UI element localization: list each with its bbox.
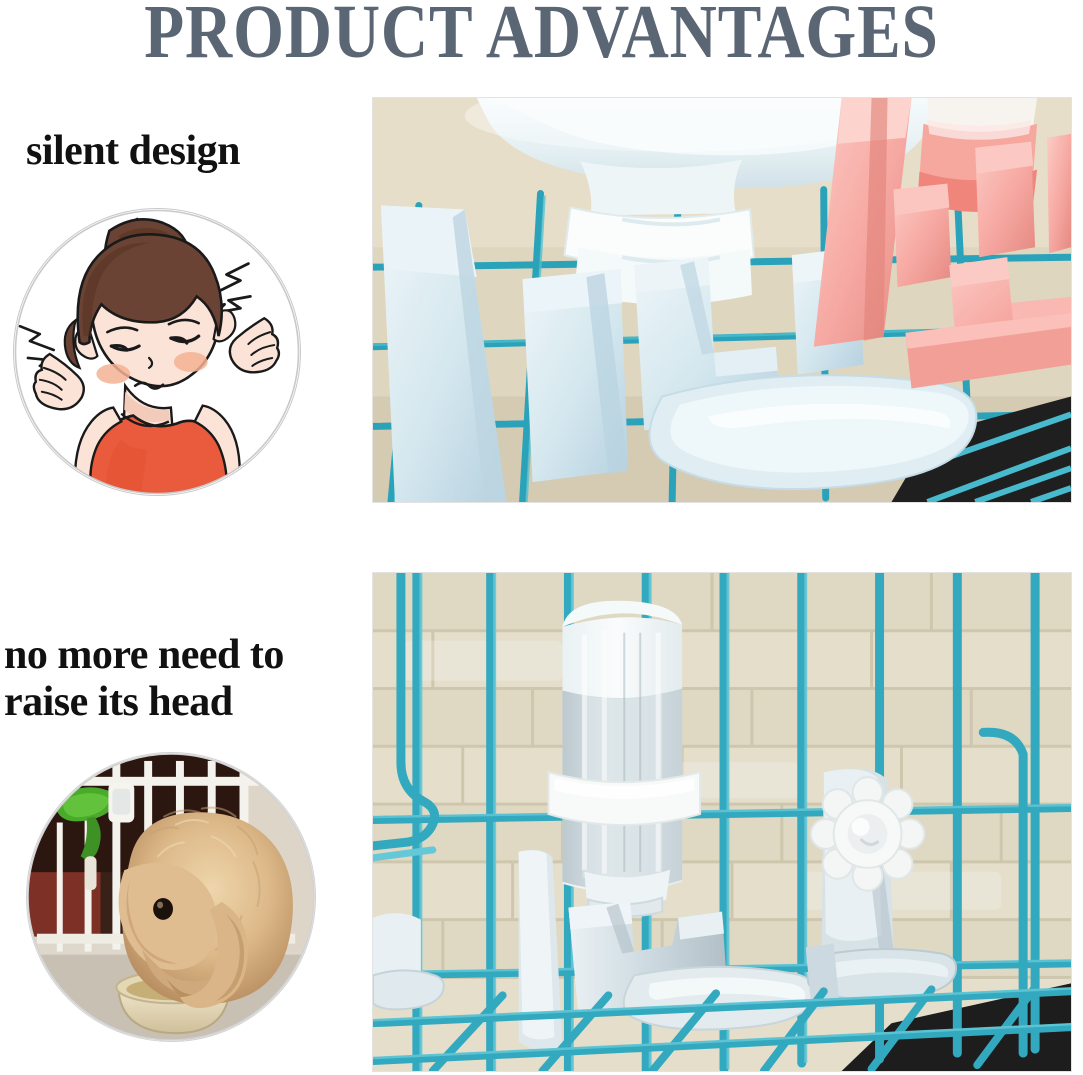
feature-label-silent-design: silent design [26,128,240,175]
feature-label-no-raise-head: no more need to raise its head [4,632,349,726]
dispenser-closeup-photo [372,97,1072,503]
feature-label-line-1: no more need to [4,632,349,679]
dispenser-on-cage-photo [372,572,1072,1072]
feature-label-line-2: raise its head [4,679,349,726]
page-title: PRODUCT ADVANTAGES [76,0,1007,70]
girl-covering-ears-illustration [13,208,301,496]
rabbit-drinking-from-bowl-photo [26,752,316,1042]
